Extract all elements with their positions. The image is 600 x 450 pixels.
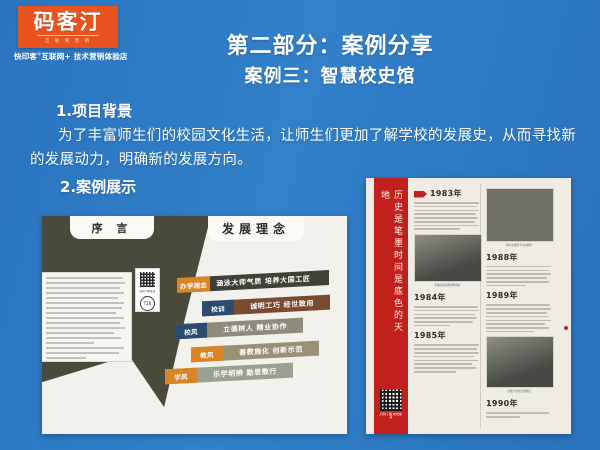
history-qr-caption: 扫码了解 校史故事	[380, 413, 402, 421]
history-photo	[486, 188, 554, 242]
history-year-label: 1984年	[414, 292, 480, 304]
history-year-label: 1989年	[486, 290, 552, 302]
qr-card-caption: 扫码了解更多	[139, 289, 155, 293]
history-banner-vertical-text: 历史是笔墨时间是底色的天地	[378, 190, 404, 340]
column-divider	[480, 184, 481, 428]
history-red-banner: 历史是笔墨时间是底色的天地 扫码了解 校史故事	[374, 178, 408, 434]
page-subtitle: 案例三：智慧校史馆	[0, 62, 600, 88]
history-photo	[414, 234, 482, 282]
history-paragraph	[414, 344, 480, 372]
history-paragraph	[414, 306, 480, 327]
board-marker-dot	[564, 326, 568, 330]
history-paragraph	[486, 412, 552, 417]
qr-code-icon[interactable]	[140, 272, 155, 287]
history-photo-caption: 师生在课堂学习的场景	[486, 244, 552, 248]
qr-code-icon[interactable]	[380, 389, 402, 411]
history-paragraph	[414, 202, 480, 230]
wall-tab-philosophy: 发展理念	[208, 216, 304, 241]
section-heading-showcase: 2.案例展示	[60, 176, 136, 197]
history-photo-caption: 首批毕业生合影留念	[486, 390, 552, 394]
culture-wall-photo: 序 言 发展理念 扫码了解更多 T20 办学理念 涵泳大师气质 培养大国工匠 校…	[42, 216, 347, 434]
history-column-right: 师生在课堂学习的场景 1988年 1989年 首批毕业生合影留念 1990年	[486, 184, 552, 420]
arrow-right-icon	[414, 191, 427, 198]
page-title: 第二部分：案例分享	[0, 28, 600, 60]
philosophy-banner-tag: 学风	[165, 368, 197, 385]
history-qr-block[interactable]: 扫码了解 校史故事	[380, 389, 402, 421]
school-history-board-photo: 历史是笔墨时间是底色的天地 扫码了解 校史故事 1983年 学校创办初期的教学楼…	[366, 178, 571, 434]
philosophy-banner-tag: 办学理念	[177, 276, 210, 293]
wall-badge: T20	[140, 296, 155, 311]
body-paragraph: 为了丰富师生们的校园文化生活，让师生们更加了解学校的发展史，从而寻找新 的发展动…	[30, 124, 585, 172]
history-photo-caption: 学校创办初期的教学楼	[414, 284, 480, 288]
history-column-left: 1983年 学校创办初期的教学楼 1984年 1985年	[414, 184, 480, 375]
philosophy-banner-tag: 校风	[175, 323, 207, 340]
wall-tab-preface: 序 言	[70, 216, 154, 239]
history-year-label: 1983年	[430, 188, 462, 200]
history-year-label: 1988年	[486, 252, 552, 264]
paragraph-line-2: 的发展动力，明确新的发展方向。	[30, 148, 585, 172]
philosophy-banner-tag: 校训	[202, 300, 234, 317]
history-year-label: 1985年	[414, 330, 480, 342]
paragraph-line-1: 为了丰富师生们的校园文化生活，让师生们更加了解学校的发展史，从而寻找新	[58, 128, 576, 144]
history-photo	[486, 336, 554, 388]
wall-qr-card[interactable]: 扫码了解更多 T20	[135, 268, 160, 312]
history-year-entry: 1983年	[414, 188, 480, 200]
wall-preface-text-block	[42, 272, 132, 362]
philosophy-banner-tag: 教风	[191, 346, 223, 363]
history-paragraph	[486, 304, 552, 332]
slide-canvas: 码客汀 互 联 网 营 销 快印客®互联网+ 技术营销体验店 第二部分：案例分享…	[0, 0, 600, 450]
section-heading-background: 1.项目背景	[56, 100, 132, 121]
history-year-label: 1990年	[486, 398, 552, 410]
history-paragraph	[486, 266, 552, 287]
